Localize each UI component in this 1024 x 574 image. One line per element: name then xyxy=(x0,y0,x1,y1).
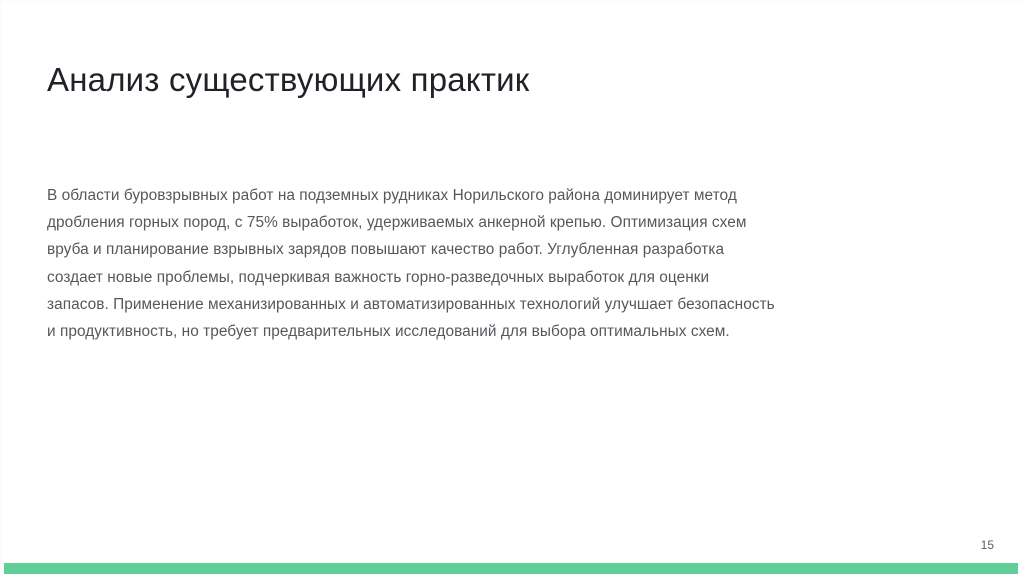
body-line: дробления горных пород, с 75% выработок,… xyxy=(47,209,979,236)
slide-canvas: Анализ существующих практик В области бу… xyxy=(0,0,1024,574)
body-line: вруба и планирование взрывных зарядов по… xyxy=(47,236,979,263)
footer-accent-bar xyxy=(4,563,1018,574)
body-paragraph: В области буровзрывных работ на подземны… xyxy=(47,182,979,345)
body-line: В области буровзрывных работ на подземны… xyxy=(47,182,979,209)
body-line: создает новые проблемы, подчеркивая важн… xyxy=(47,264,979,291)
body-line: и продуктивность, но требует предварител… xyxy=(47,318,979,345)
body-line: запасов. Применение механизированных и а… xyxy=(47,291,979,318)
page-title: Анализ существующих практик xyxy=(47,59,947,101)
page-number: 15 xyxy=(981,538,994,552)
